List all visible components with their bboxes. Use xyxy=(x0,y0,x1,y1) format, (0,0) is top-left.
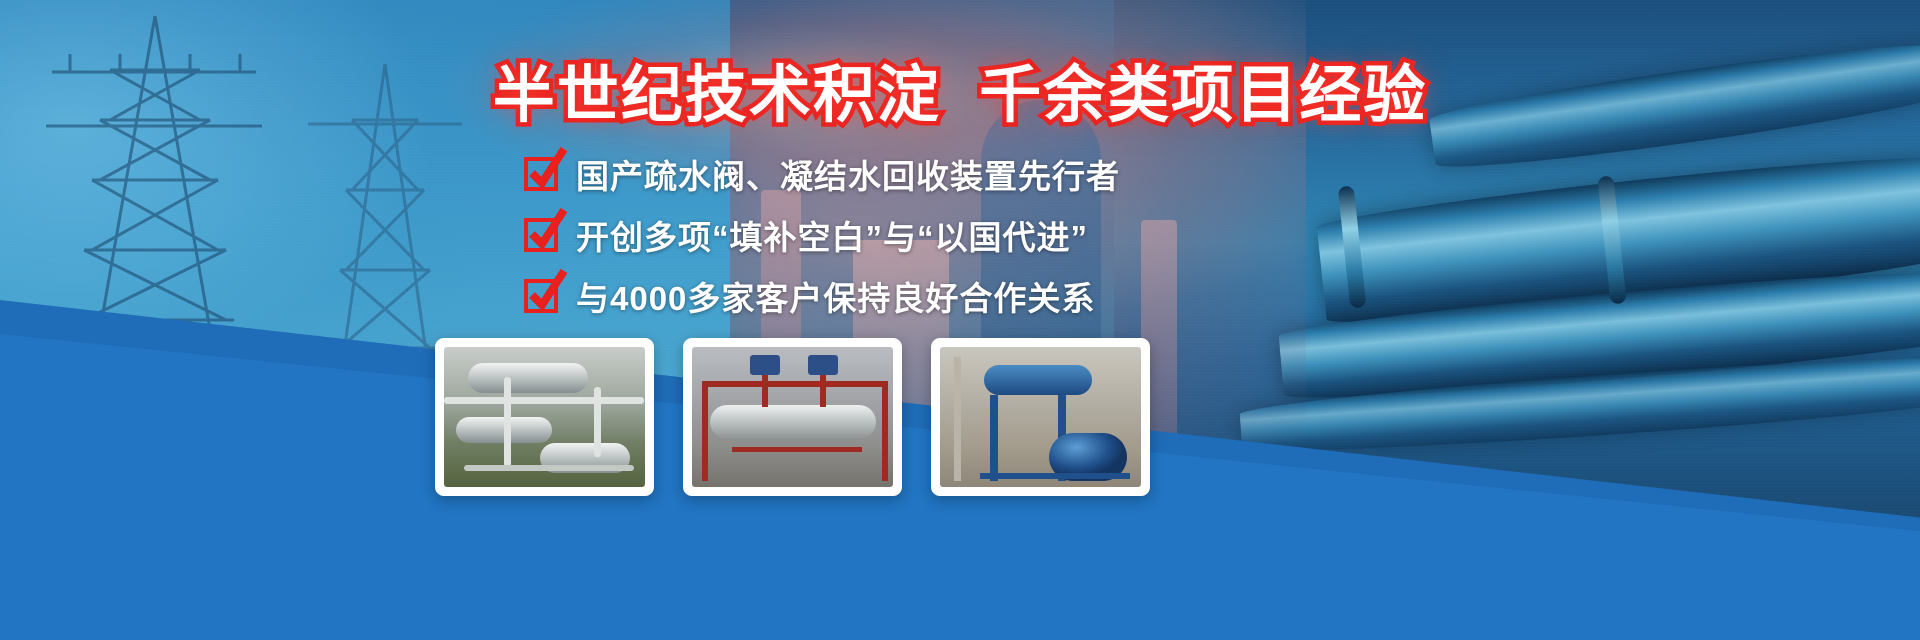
page-title: 半世纪技术积淀 千余类项目经验 xyxy=(0,44,1920,134)
photo-blue-vessel-system xyxy=(940,347,1141,487)
photo-pump-station-skid xyxy=(692,347,893,487)
photo-condensate-recovery-skid xyxy=(444,347,645,487)
list-item: 开创多项“填补空白”与“以国代进” xyxy=(524,211,1120,259)
checkbox-checked-icon xyxy=(524,218,558,252)
list-item: 与4000多家客户保持良好合作关系 xyxy=(524,272,1120,320)
checkbox-checked-icon xyxy=(524,279,558,313)
checkbox-checked-icon xyxy=(524,157,558,191)
bullet-text: 开创多项“填补空白”与“以国代进” xyxy=(576,211,1088,259)
hero-banner: 半世纪技术积淀 千余类项目经验 国产疏水阀、凝结水回收装置先行者 开创多项“填补… xyxy=(0,0,1920,640)
list-item: 国产疏水阀、凝结水回收装置先行者 xyxy=(524,150,1120,198)
photo-card[interactable] xyxy=(931,338,1150,496)
bullet-text: 与4000多家客户保持良好合作关系 xyxy=(576,272,1095,320)
bullet-text: 国产疏水阀、凝结水回收装置先行者 xyxy=(576,150,1120,198)
feature-bullet-list: 国产疏水阀、凝结水回收装置先行者 开创多项“填补空白”与“以国代进” 与4000… xyxy=(524,150,1120,320)
photo-card[interactable] xyxy=(435,338,654,496)
photo-card[interactable] xyxy=(683,338,902,496)
product-photo-gallery xyxy=(435,338,1150,496)
